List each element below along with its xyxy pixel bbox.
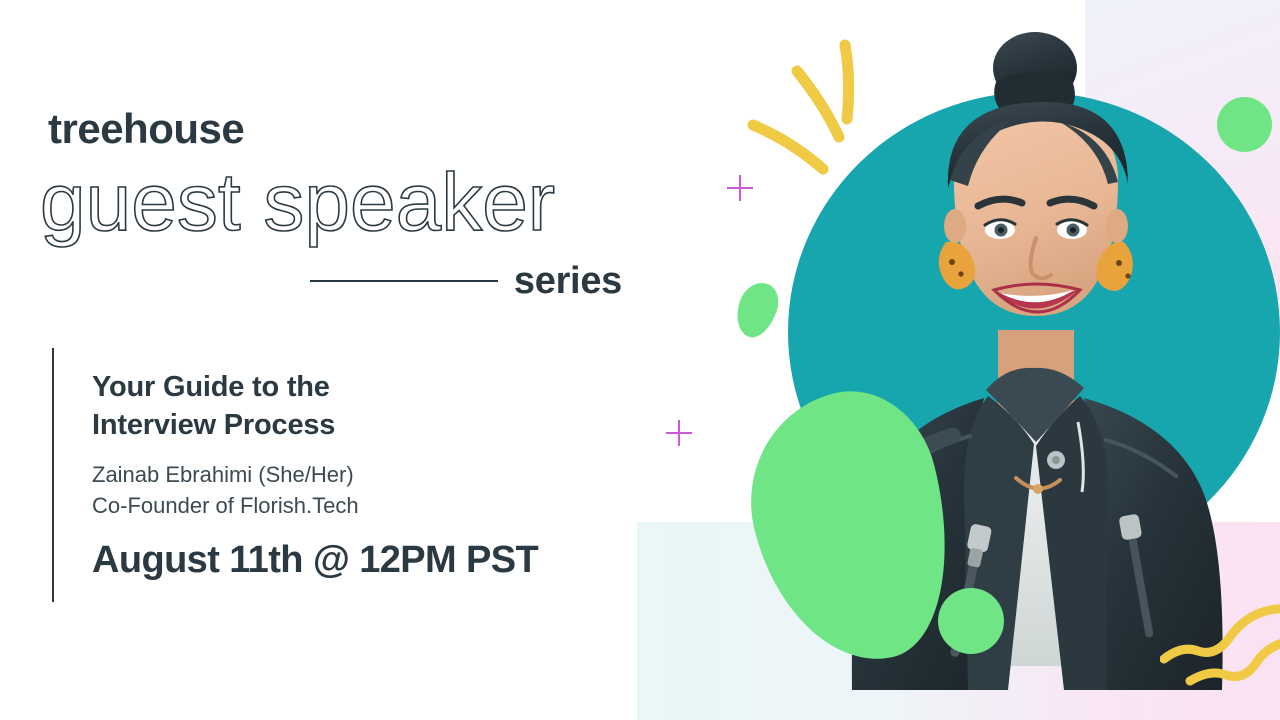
talk-title-line-2: Interview Process	[92, 406, 612, 444]
slide-canvas: treehouse guest speaker series Your Guid…	[0, 0, 1280, 720]
session-datetime: August 11th @ 12PM PST	[92, 541, 612, 579]
green-bean-shape	[730, 277, 783, 342]
wavy-lines-icon	[1160, 585, 1280, 695]
speaker-role: Co-Founder of Florish.Tech	[92, 490, 612, 521]
sparkle-lines-icon	[745, 35, 895, 185]
series-divider-rule	[310, 280, 498, 282]
green-circle-shape-bottom	[938, 588, 1004, 654]
series-label-row: series	[310, 258, 622, 304]
talk-title: Your Guide to the Interview Process	[92, 368, 612, 445]
plus-mark-icon-bottom	[666, 420, 692, 446]
session-info-block: Your Guide to the Interview Process Zain…	[92, 368, 612, 579]
headline-outline-text: guest speaker	[40, 160, 555, 246]
speaker-name: Zainab Ebrahimi (She/Her)	[92, 459, 612, 490]
brand-wordmark: treehouse	[48, 108, 244, 150]
accent-vertical-bar	[52, 348, 54, 602]
series-label: series	[514, 262, 622, 300]
talk-title-line-1: Your Guide to the	[92, 368, 612, 406]
